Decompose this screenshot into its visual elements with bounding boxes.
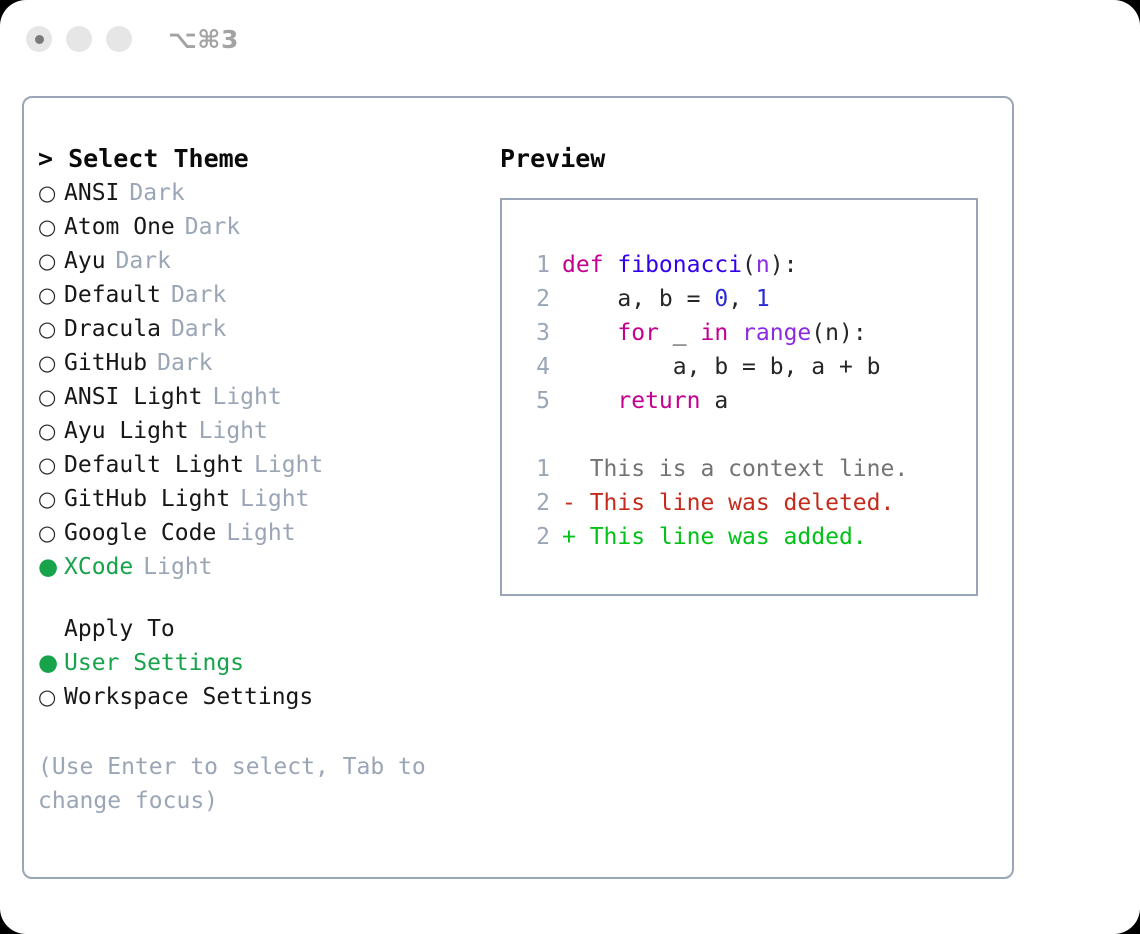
traffic-lights — [26, 26, 132, 52]
preview-column: Preview 1def fibonacci(n):2 a, b = 0, 13… — [500, 142, 1012, 818]
code-token-plain: _ — [659, 320, 701, 346]
theme-option-name: Dracula — [64, 312, 161, 346]
theme-option-atom-one[interactable]: ○Atom OneDark — [38, 210, 500, 244]
radio-unselected-icon: ○ — [38, 516, 64, 550]
theme-option-name: Ayu Light — [64, 414, 189, 448]
theme-selection-column: > Select Theme ○ANSIDark○Atom OneDark○Ay… — [38, 142, 500, 818]
apply-to-option-name: Workspace Settings — [64, 680, 313, 714]
code-line-content: def fibonacci(n): — [562, 248, 797, 282]
code-diff-separator — [520, 418, 976, 452]
diff-line-number: 2 — [520, 486, 550, 520]
theme-option-kind: Light — [254, 448, 323, 482]
code-token-num: 0 — [714, 286, 728, 312]
code-token-plain: a — [700, 388, 728, 414]
radio-unselected-icon: ○ — [38, 176, 64, 210]
radio-unselected-icon: ○ — [38, 680, 64, 714]
theme-option-name: Default — [64, 278, 161, 312]
theme-option-name: GitHub — [64, 346, 147, 380]
diff-snippet: 1 This is a context line.2- This line wa… — [520, 452, 976, 554]
code-line-content: a, b = b, a + b — [562, 350, 881, 384]
theme-option-name: GitHub Light — [64, 482, 230, 516]
theme-picker-panel: > Select Theme ○ANSIDark○Atom OneDark○Ay… — [22, 96, 1014, 879]
panel-columns: > Select Theme ○ANSIDark○Atom OneDark○Ay… — [24, 98, 1012, 818]
code-line: 1def fibonacci(n): — [520, 248, 976, 282]
apply-to-option-user-settings[interactable]: ●User Settings — [38, 646, 500, 680]
traffic-light-dot-inner — [35, 35, 44, 44]
radio-unselected-icon: ○ — [38, 312, 64, 346]
code-token-kw: return — [617, 388, 700, 414]
code-token-plain: ): — [770, 252, 798, 278]
radio-unselected-icon: ○ — [38, 380, 64, 414]
theme-option-kind: Dark — [171, 278, 226, 312]
theme-option-kind: Light — [212, 380, 281, 414]
theme-option-kind: Light — [199, 414, 268, 448]
radio-unselected-icon: ○ — [38, 346, 64, 380]
theme-option-kind: Light — [226, 516, 295, 550]
theme-option-name: ANSI — [64, 176, 119, 210]
diff-line-ctx: 1 This is a context line. — [520, 452, 976, 486]
code-token-kw: def — [562, 252, 617, 278]
theme-option-name: Default Light — [64, 448, 244, 482]
preview-title: Preview — [500, 142, 1012, 176]
diff-line-content: - This line was deleted. — [562, 486, 894, 520]
apply-to-option-workspace-settings[interactable]: ○Workspace Settings — [38, 680, 500, 714]
apply-to-option-name: User Settings — [64, 646, 244, 680]
code-line-number: 3 — [520, 316, 550, 350]
theme-option-name: Google Code — [64, 516, 216, 550]
theme-option-kind: Dark — [129, 176, 184, 210]
theme-option-ansi-light[interactable]: ○ANSI LightLight — [38, 380, 500, 414]
keyboard-hint: (Use Enter to select, Tab to change focu… — [38, 750, 448, 818]
code-line: 3 for _ in range(n): — [520, 316, 976, 350]
code-token-param: n — [756, 252, 770, 278]
diff-line-content: + This line was added. — [562, 520, 867, 554]
radio-selected-icon: ● — [38, 646, 64, 680]
theme-option-name: Ayu — [64, 244, 106, 278]
code-line-content: for _ in range(n): — [562, 316, 867, 350]
code-line-number: 2 — [520, 282, 550, 316]
code-line: 2 a, b = 0, 1 — [520, 282, 976, 316]
diff-line-content: This is a context line. — [562, 452, 908, 486]
window-titlebar: ⌥⌘3 — [0, 0, 1140, 78]
section-spacer — [38, 584, 500, 612]
code-token-plain: , — [728, 286, 756, 312]
theme-option-name: XCode — [64, 550, 133, 584]
theme-option-kind: Dark — [185, 210, 240, 244]
code-line-content: a, b = 0, 1 — [562, 282, 770, 316]
code-token-plain: a, b = — [562, 286, 714, 312]
radio-unselected-icon: ○ — [38, 210, 64, 244]
theme-option-kind: Light — [240, 482, 309, 516]
diff-line-number: 2 — [520, 520, 550, 554]
theme-option-dracula[interactable]: ○DraculaDark — [38, 312, 500, 346]
radio-unselected-icon: ○ — [38, 448, 64, 482]
code-token-kw: for — [617, 320, 659, 346]
theme-option-ayu-light[interactable]: ○Ayu LightLight — [38, 414, 500, 448]
radio-unselected-icon: ○ — [38, 244, 64, 278]
code-token-bi: range — [742, 320, 811, 346]
traffic-light-2-icon[interactable] — [66, 26, 92, 52]
code-token-plain: ( — [742, 252, 756, 278]
theme-option-default-light[interactable]: ○Default LightLight — [38, 448, 500, 482]
theme-option-xcode[interactable]: ●XCodeLight — [38, 550, 500, 584]
code-line-content: return a — [562, 384, 728, 418]
code-token-fn: fibonacci — [617, 252, 742, 278]
theme-option-name: Atom One — [64, 210, 175, 244]
code-token-num: 1 — [756, 286, 770, 312]
code-line-number: 1 — [520, 248, 550, 282]
code-token-kw: in — [700, 320, 728, 346]
theme-option-ansi[interactable]: ○ANSIDark — [38, 176, 500, 210]
theme-option-kind: Dark — [157, 346, 212, 380]
theme-option-google-code[interactable]: ○Google CodeLight — [38, 516, 500, 550]
code-line-number: 5 — [520, 384, 550, 418]
theme-option-kind: Dark — [116, 244, 171, 278]
app-window: ⌥⌘3 > Select Theme ○ANSIDark○Atom OneDar… — [0, 0, 1140, 934]
theme-list: ○ANSIDark○Atom OneDark○AyuDark○DefaultDa… — [38, 176, 500, 584]
traffic-light-active-icon[interactable] — [26, 26, 52, 52]
keyboard-shortcut-label: ⌥⌘3 — [168, 25, 239, 54]
code-snippet: 1def fibonacci(n):2 a, b = 0, 13 for _ i… — [520, 248, 976, 418]
diff-line-add: 2+ This line was added. — [520, 520, 976, 554]
code-line: 4 a, b = b, a + b — [520, 350, 976, 384]
preview-code-box: 1def fibonacci(n):2 a, b = 0, 13 for _ i… — [500, 198, 978, 596]
code-token-plain — [562, 388, 617, 414]
theme-option-kind: Light — [143, 550, 212, 584]
code-token-plain — [562, 320, 617, 346]
diff-line-del: 2- This line was deleted. — [520, 486, 976, 520]
code-token-plain: (n): — [811, 320, 866, 346]
radio-selected-icon: ● — [38, 550, 64, 584]
code-token-plain — [728, 320, 742, 346]
radio-unselected-icon: ○ — [38, 414, 64, 448]
theme-option-github-light[interactable]: ○GitHub LightLight — [38, 482, 500, 516]
code-line: 5 return a — [520, 384, 976, 418]
apply-to-label: Apply To — [38, 612, 500, 646]
theme-option-name: ANSI Light — [64, 380, 202, 414]
theme-option-default[interactable]: ○DefaultDark — [38, 278, 500, 312]
radio-unselected-icon: ○ — [38, 278, 64, 312]
apply-to-list: ●User Settings○Workspace Settings — [38, 646, 500, 714]
radio-unselected-icon: ○ — [38, 482, 64, 516]
select-theme-heading: > Select Theme — [38, 142, 500, 176]
diff-line-number: 1 — [520, 452, 550, 486]
theme-option-github[interactable]: ○GitHubDark — [38, 346, 500, 380]
traffic-light-3-icon[interactable] — [106, 26, 132, 52]
theme-option-kind: Dark — [171, 312, 226, 346]
theme-option-ayu[interactable]: ○AyuDark — [38, 244, 500, 278]
code-line-number: 4 — [520, 350, 550, 384]
code-token-plain: a, b = b, a + b — [562, 354, 881, 380]
